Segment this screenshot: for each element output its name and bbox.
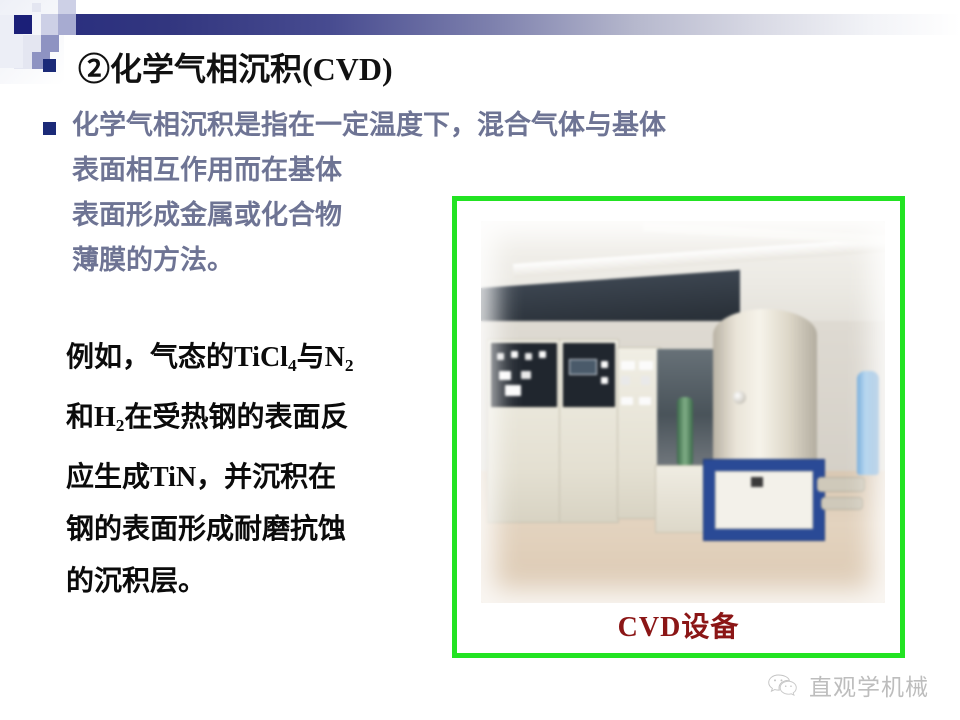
photo-led-7 (505, 385, 521, 396)
photo-base-handle (751, 477, 763, 487)
p2-l1-sub1: 4 (288, 356, 297, 375)
photo-gas-cylinder (677, 397, 693, 467)
p2-l2-b: 在受热钢的表面反 (124, 402, 348, 433)
photo-machine-base-door (715, 471, 813, 529)
paragraph-2-line-4: 钢的表面形成耐磨抗蚀 (66, 504, 426, 556)
photo-switch-3 (621, 397, 633, 405)
slide-canvas: ②化学气相沉积(CVD) 化学气相沉积是指在一定温度下，混合气体与基体 表面相互… (0, 0, 960, 720)
paragraph-example: 例如，气态的TiCl4与N2 和H2在受热钢的表面反 应生成TiN，并沉积在 钢… (66, 332, 426, 608)
cvd-equipment-photo (481, 221, 885, 603)
picture-caption: CVD设备 (457, 605, 900, 645)
deco-square-3b (41, 14, 58, 35)
p2-l1-a: 例如，气态的TiCl (66, 342, 288, 373)
photo-switch-4 (639, 397, 651, 405)
photo-led-8 (601, 361, 608, 368)
photo-knob-1 (621, 376, 630, 385)
photo-led-1 (497, 353, 504, 360)
photo-led-9 (601, 377, 608, 384)
photo-knob-2 (641, 376, 650, 385)
watermark: 直观学机械 (766, 668, 929, 702)
photo-blue-tank (857, 371, 879, 475)
photo-display-screen (569, 359, 597, 375)
paragraph-2-line-1: 例如，气态的TiCl4与N2 (66, 332, 426, 392)
photo-led-5 (499, 371, 511, 380)
paragraph-2-line-3: 应生成TiN，并沉积在 (66, 452, 426, 504)
photo-switch-1 (621, 361, 635, 370)
deco-square-8 (58, 14, 76, 35)
deco-square-11 (0, 34, 23, 68)
deco-square-2 (58, 0, 76, 14)
deco-square-6 (41, 35, 59, 52)
deco-square-5 (0, 15, 14, 34)
bullet-title (43, 59, 56, 72)
p2-l1-sub2: 2 (345, 356, 354, 375)
paragraph-1-line-2: 表面相互作用而在基体 (72, 148, 862, 193)
paragraph-2-line-2: 和H2在受热钢的表面反 (66, 392, 426, 452)
photo-led-4 (539, 351, 546, 358)
p2-l2-a: 和H (66, 402, 116, 433)
deco-square-tiny-1 (32, 3, 41, 12)
bullet-paragraph-1 (43, 122, 56, 135)
photo-cabinet-2-panel (563, 343, 615, 407)
photo-switch-2 (639, 361, 653, 370)
deco-square-navy (14, 15, 32, 34)
photo-led-2 (511, 351, 518, 358)
watermark-text: 直观学机械 (809, 668, 929, 702)
photo-chamber-port (733, 391, 746, 404)
paragraph-1-line-1: 化学气相沉积是指在一定温度下，混合气体与基体 (72, 103, 862, 148)
photo-pipe-1 (817, 477, 865, 492)
deco-square-7 (23, 35, 41, 52)
wechat-icon (766, 672, 800, 698)
header-gradient-bar (58, 14, 960, 35)
p2-l1-b: 与N (297, 342, 345, 373)
photo-led-3 (525, 353, 532, 360)
photo-led-6 (521, 371, 531, 379)
photo-pipe-2 (821, 497, 863, 510)
page-title: ②化学气相沉积(CVD) (78, 44, 393, 90)
paragraph-2-line-5: 的沉积层。 (66, 556, 426, 608)
picture-frame: CVD设备 (452, 196, 905, 658)
